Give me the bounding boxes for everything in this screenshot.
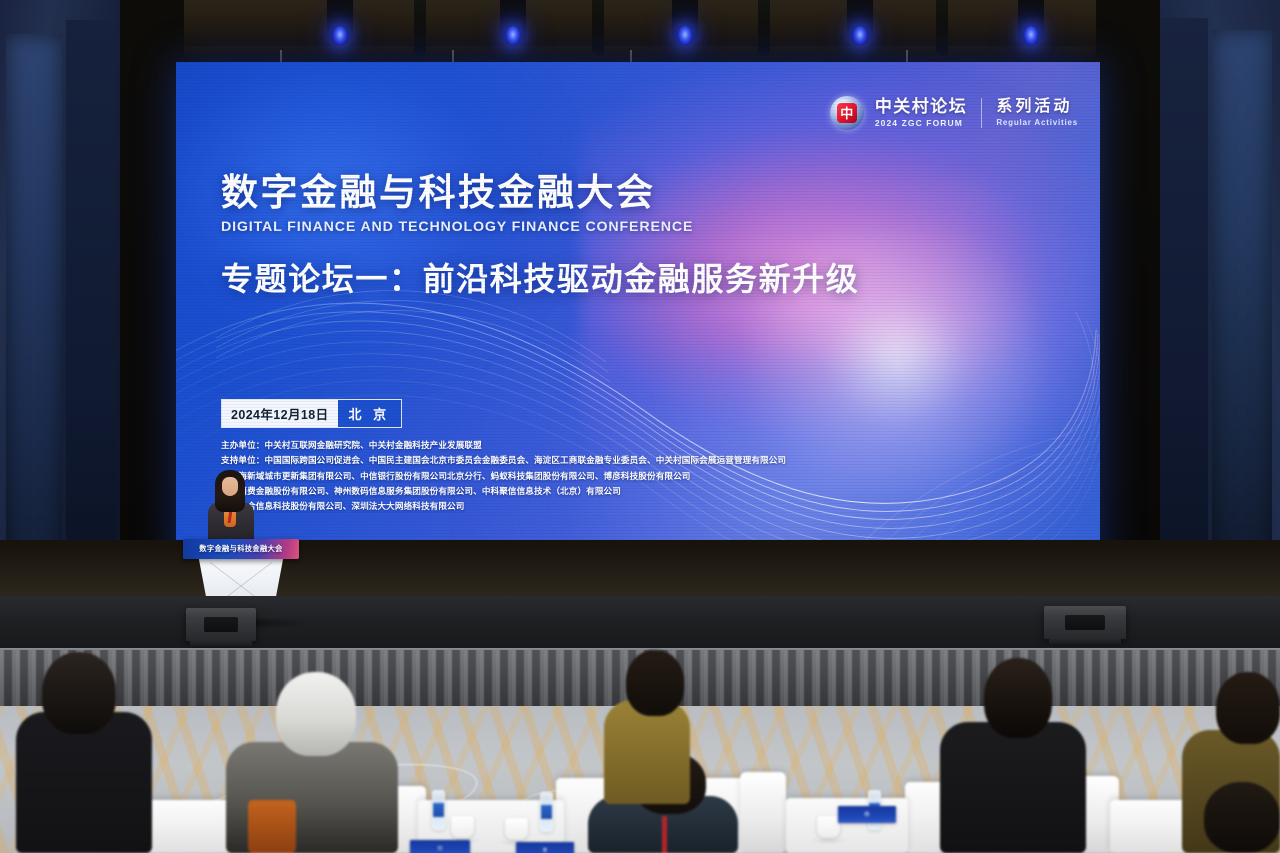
conference-title-cn: 数字金融与科技金融大会 <box>221 172 859 213</box>
forum-emblem-icon: 中 <box>830 96 864 130</box>
conference-photo-scene: 中 中关村论坛 2024 ZGC FORUM 系列活动 Regular Acti… <box>0 0 1280 853</box>
name-card: 李 <box>516 842 574 853</box>
truss-arm <box>414 0 426 56</box>
organizer-list: 主办单位：中关村互联网金融研究院、中关村金融科技产业发展联盟 支持单位：中国国际… <box>221 440 786 517</box>
forum-session-title: 专题论坛一：前沿科技驱动金融服务新升级 <box>221 254 859 300</box>
person-head <box>1204 782 1280 853</box>
logo-series-en: Regular Activities <box>996 118 1078 127</box>
stage-monitor-speaker <box>186 608 256 641</box>
logo-divider <box>981 98 982 128</box>
teacup <box>817 816 840 838</box>
organizer-line: 北京海新域城市更新集团有限公司、中信银行股份有限公司北京分行、蚂蚁科技集团股份有… <box>221 471 786 481</box>
water-bottle <box>432 790 445 830</box>
person-head <box>984 658 1052 738</box>
podium-sign: 数字金融与科技金融大会 <box>183 539 299 559</box>
conference-title-en: DIGITAL FINANCE AND TECHNOLOGY FINANCE C… <box>221 219 859 235</box>
person-head <box>1216 672 1280 744</box>
name-card-text: 刘 <box>437 845 442 852</box>
podium-sign-text: 数字金融与科技金融大会 <box>199 544 282 554</box>
person-head <box>276 672 356 756</box>
person-head <box>626 650 684 716</box>
wall-panel-right <box>1212 30 1272 600</box>
event-city: 北 京 <box>338 400 402 427</box>
logo-series-cn: 系列活动 <box>996 99 1078 116</box>
screen-title-block: 数字金融与科技金融大会 DIGITAL FINANCE AND TECHNOLO… <box>221 172 859 300</box>
wall-panel-left <box>6 34 62 594</box>
sofa-arm <box>740 772 786 853</box>
truss-arm <box>592 0 604 56</box>
wall-panel-right-inner <box>1158 18 1208 623</box>
truss-arm <box>936 0 948 56</box>
organizer-line: 上海合合信息科技股份有限公司、深圳法大大网络科技有限公司 <box>221 501 786 511</box>
stage-light <box>847 0 873 44</box>
stage-light <box>327 0 353 44</box>
organizer-line: 马上消费金融股份有限公司、神州数码信息服务集团股份有限公司、中科聚信信息技术（北… <box>221 486 786 496</box>
person-body <box>940 722 1086 853</box>
person-head <box>42 652 116 734</box>
led-screen: 中 中关村论坛 2024 ZGC FORUM 系列活动 Regular Acti… <box>176 62 1100 596</box>
speaker-face <box>222 477 238 496</box>
water-bottle <box>540 792 553 832</box>
name-card: 刘 <box>410 840 470 853</box>
emblem-glyph: 中 <box>837 103 857 123</box>
stage-light <box>500 0 526 44</box>
stage-light <box>672 0 698 44</box>
truss-arm <box>758 0 770 56</box>
stage-monitor-base <box>1049 637 1121 644</box>
person-lanyard <box>662 816 667 853</box>
stage-monitor-right <box>1044 606 1126 639</box>
name-card: 杨 <box>838 806 896 823</box>
organizer-line: 主办单位：中关村互联网金融研究院、中关村金融科技产业发展联盟 <box>221 440 786 450</box>
ceiling-truss-beam <box>0 46 1280 62</box>
zgc-forum-logo: 中 中关村论坛 2024 ZGC FORUM 系列活动 Regular Acti… <box>830 96 1078 130</box>
stage-monitor-base <box>190 639 252 646</box>
logo-brand-cn: 中关村论坛 <box>875 98 968 116</box>
logo-brand-en: 2024 ZGC FORUM <box>875 118 968 128</box>
teacup <box>505 818 528 840</box>
organizer-line: 支持单位：中国国际跨国公司促进会、中国民主建国会北京市委员会金融委员会、海淀区工… <box>221 455 786 465</box>
date-location-badge: 2024年12月18日 北 京 <box>221 399 402 428</box>
person-scarf <box>248 800 296 853</box>
event-date: 2024年12月18日 <box>222 400 338 427</box>
teacup <box>451 816 474 838</box>
wall-panel-left-inner <box>66 20 116 620</box>
name-card-text: 杨 <box>864 811 869 818</box>
stage-light <box>1018 0 1044 44</box>
name-card-text: 李 <box>542 847 547 853</box>
